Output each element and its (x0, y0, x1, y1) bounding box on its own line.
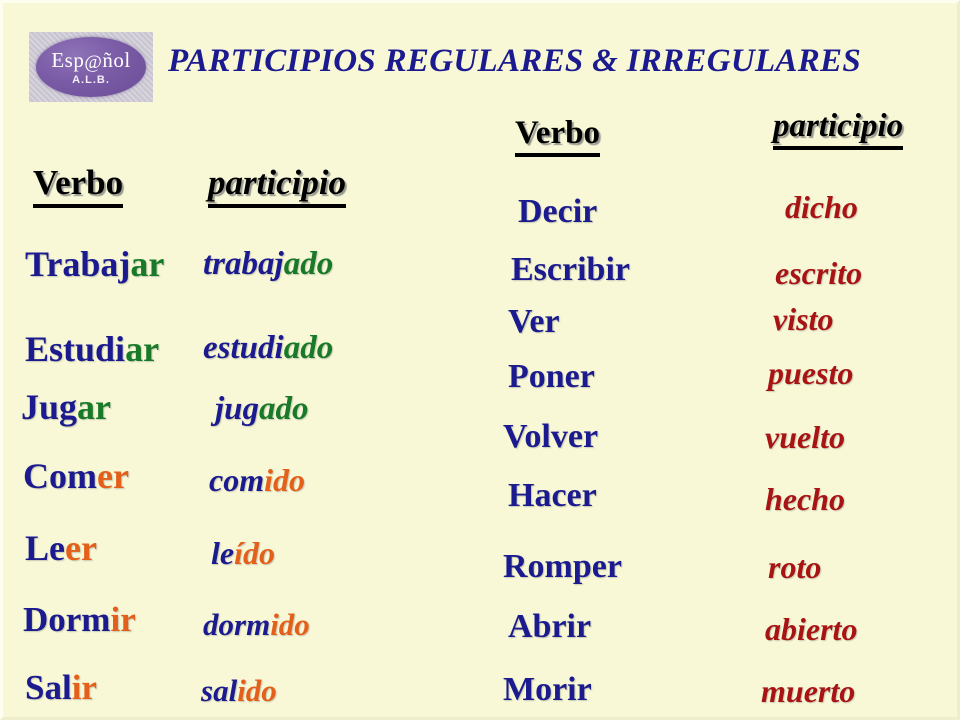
participle-ending: ído (234, 535, 275, 571)
verb-stem: Jug (21, 387, 77, 427)
irregular-verb-5: Volver (503, 418, 598, 456)
verb-ending: ir (72, 668, 97, 707)
participle-ending: ado (284, 330, 334, 366)
regular-header-participle: participio (208, 163, 346, 208)
verb-ending: er (97, 456, 129, 496)
regular-participle-3: jugado (215, 391, 309, 428)
logo-word-head: Esp (51, 48, 84, 72)
espanol-alb-logo: Esp@ñol A.L.B. (29, 32, 153, 102)
participle-stem: com (209, 462, 264, 498)
verb-ending: ar (125, 329, 159, 369)
verb-stem: Com (23, 456, 97, 496)
logo-subtitle: A.L.B. (72, 75, 110, 86)
verb-ending: ar (77, 387, 111, 427)
regular-verb-1: Trabajar (25, 243, 164, 285)
irregular-verb-6: Hacer (508, 477, 597, 515)
regular-verb-2: Estudiar (25, 328, 159, 370)
irregular-participle-5: vuelto (765, 419, 845, 456)
participle-stem: trabaj (203, 246, 284, 282)
regular-participle-2: estudiado (203, 330, 333, 367)
regular-verb-5: Leer (25, 527, 97, 569)
regular-verb-4: Comer (23, 455, 129, 497)
logo-wordmark: Esp@ñol (51, 50, 130, 72)
irregular-participle-7: roto (768, 549, 821, 586)
at-sign-icon: @ (84, 53, 102, 72)
regular-participle-4: comido (209, 462, 305, 499)
irregular-participle-6: hecho (765, 481, 845, 518)
regular-verb-7: Salir (25, 668, 97, 708)
irregular-verb-3: Ver (508, 303, 560, 341)
participle-ending: ido (270, 607, 310, 642)
participle-stem: dorm (203, 607, 270, 642)
verb-ending: er (65, 528, 97, 568)
verb-ending: ir (110, 600, 135, 639)
regular-participle-6: dormido (203, 607, 310, 643)
verb-stem: Estudi (25, 329, 125, 369)
irregular-verb-9: Morir (503, 671, 592, 709)
irregular-header-verb: Verbo (515, 115, 600, 157)
verb-stem: Trabaj (25, 244, 130, 284)
participle-ending: ado (259, 391, 309, 427)
verb-stem: Sal (25, 668, 72, 707)
regular-verb-3: Jugar (21, 386, 111, 428)
participle-stem: jug (215, 391, 259, 427)
participle-ending: ado (284, 246, 334, 282)
verb-stem: Dorm (23, 600, 110, 639)
verb-ending: ar (130, 244, 164, 284)
slide-canvas: Esp@ñol A.L.B. PARTICIPIOS REGULARES & I… (0, 0, 960, 720)
irregular-participle-1: dicho (785, 189, 858, 226)
logo-ellipse: Esp@ñol A.L.B. (36, 37, 146, 97)
irregular-participle-3: visto (773, 301, 833, 338)
participle-ending: ido (264, 462, 305, 498)
irregular-verb-2: Escribir (511, 251, 630, 289)
regular-participle-5: leído (211, 535, 275, 572)
regular-participle-1: trabajado (203, 246, 333, 283)
irregular-participle-8: abierto (765, 611, 857, 648)
participle-stem: le (211, 535, 234, 571)
page-title: PARTICIPIOS REGULARES & IRREGULARES (168, 43, 948, 80)
irregular-verb-7: Romper (503, 548, 622, 586)
irregular-verb-8: Abrir (508, 608, 591, 646)
irregular-verb-4: Poner (508, 358, 595, 396)
logo-word-tail: ñol (102, 48, 130, 72)
irregular-participle-2: escrito (775, 255, 862, 292)
irregular-header-participle: participio (773, 108, 903, 150)
regular-verb-6: Dormir (23, 600, 136, 640)
participle-stem: sal (201, 673, 237, 708)
participle-ending: ido (237, 673, 277, 708)
participle-stem: estudi (203, 330, 284, 366)
irregular-participle-4: puesto (768, 355, 853, 392)
regular-header-verb: Verbo (33, 163, 123, 208)
verb-stem: Le (25, 528, 65, 568)
irregular-verb-1: Decir (518, 193, 597, 231)
regular-participle-7: salido (201, 673, 277, 709)
irregular-participle-9: muerto (761, 673, 855, 710)
